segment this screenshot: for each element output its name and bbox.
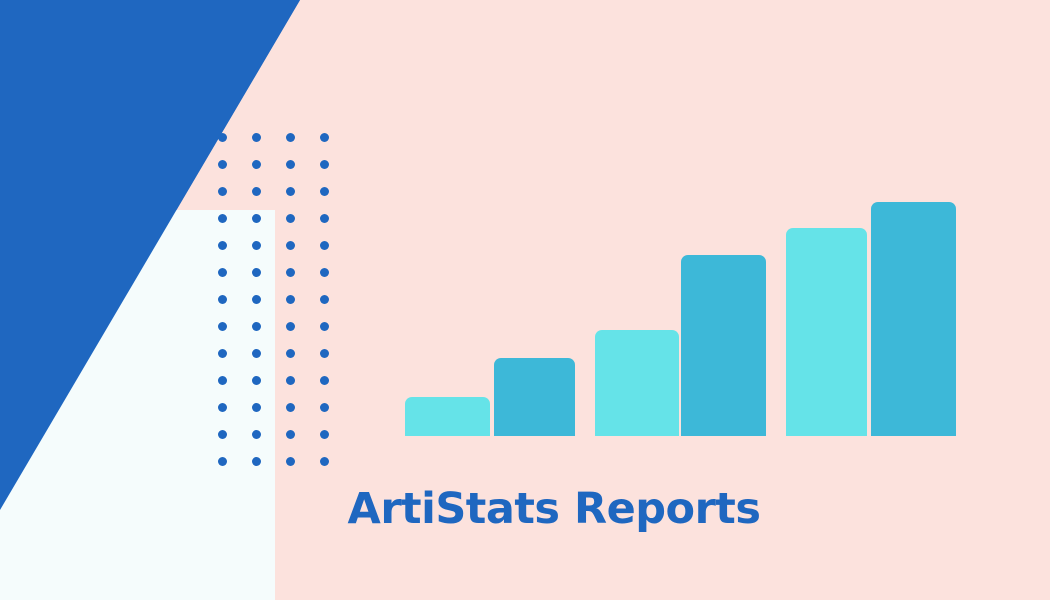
- grid-dot: [286, 241, 295, 250]
- grid-dot: [286, 268, 295, 277]
- grid-dot: [252, 349, 261, 358]
- bar-chart-bar: [494, 358, 575, 436]
- dot-grid: [218, 133, 330, 469]
- grid-dot: [218, 376, 227, 385]
- grid-dot: [252, 403, 261, 412]
- grid-dot: [252, 430, 261, 439]
- grid-dot: [286, 160, 295, 169]
- bar-chart-bar: [595, 330, 679, 436]
- page-title: ArtiStats Reports: [0, 484, 1050, 534]
- grid-dot: [286, 376, 295, 385]
- grid-dot: [252, 322, 261, 331]
- grid-dot: [218, 160, 227, 169]
- grid-dot: [286, 349, 295, 358]
- grid-dot: [320, 160, 329, 169]
- grid-dot: [252, 133, 261, 142]
- grid-dot: [286, 457, 295, 466]
- grid-dot: [320, 376, 329, 385]
- grid-dot: [286, 133, 295, 142]
- grid-dot: [252, 268, 261, 277]
- grid-dot: [252, 295, 261, 304]
- grid-dot: [218, 187, 227, 196]
- bar-chart-bar: [786, 228, 867, 436]
- grid-dot: [320, 349, 329, 358]
- bar-chart-bar: [405, 397, 490, 436]
- grid-dot: [320, 295, 329, 304]
- grid-dot: [252, 457, 261, 466]
- grid-dot: [286, 295, 295, 304]
- grid-dot: [218, 403, 227, 412]
- grid-dot: [218, 430, 227, 439]
- grid-dot: [320, 403, 329, 412]
- grid-dot: [218, 457, 227, 466]
- grid-dot: [218, 133, 227, 142]
- grid-dot: [218, 241, 227, 250]
- grid-dot: [218, 322, 227, 331]
- grid-dot: [320, 133, 329, 142]
- grid-dot: [320, 214, 329, 223]
- grid-dot: [218, 295, 227, 304]
- grid-dot: [218, 268, 227, 277]
- grid-dot: [252, 241, 261, 250]
- grid-dot: [286, 430, 295, 439]
- grid-dot: [286, 214, 295, 223]
- grid-dot: [218, 349, 227, 358]
- bar-chart-bar: [681, 255, 766, 436]
- grid-dot: [320, 268, 329, 277]
- poster-canvas: ArtiStats Reports: [0, 0, 1050, 600]
- grid-dot: [286, 322, 295, 331]
- grid-dot: [252, 214, 261, 223]
- grid-dot: [320, 457, 329, 466]
- grid-dot: [320, 241, 329, 250]
- grid-dot: [286, 187, 295, 196]
- grid-dot: [252, 187, 261, 196]
- grid-dot: [252, 160, 261, 169]
- grid-dot: [320, 322, 329, 331]
- grid-dot: [320, 187, 329, 196]
- grid-dot: [320, 430, 329, 439]
- grid-dot: [252, 376, 261, 385]
- grid-dot: [286, 403, 295, 412]
- grid-dot: [218, 214, 227, 223]
- bar-chart: [405, 176, 957, 436]
- bar-chart-bar: [871, 202, 956, 436]
